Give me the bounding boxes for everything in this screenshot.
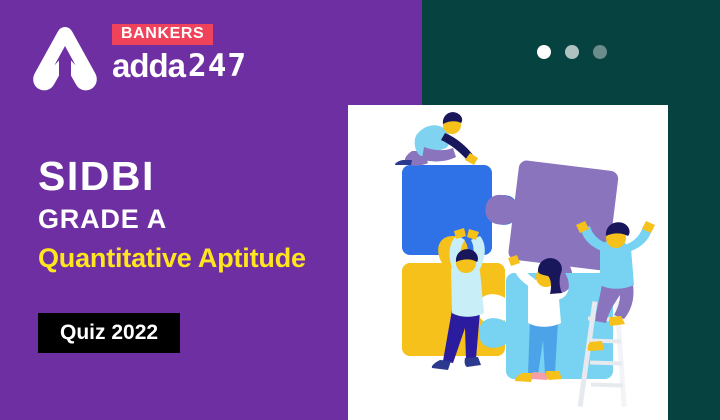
adda247-a-mark-icon [30,24,100,94]
illustration-card [348,105,668,420]
pager-dots [537,45,607,59]
banner-root: BANKERS adda 247 SIDBI GRADE A Quantitat… [0,0,720,420]
quiz-badge: Quiz 2022 [38,313,180,353]
brand-wordmark: BANKERS adda 247 [112,24,247,82]
pager-dot-2[interactable] [565,45,579,59]
person-kneeling-top [395,112,478,166]
exam-grade: GRADE A [38,204,368,235]
adda-number: 247 [188,51,247,82]
headline-block: SIDBI GRADE A Quantitative Aptitude [38,155,368,274]
exam-title: SIDBI [38,155,368,198]
pager-dot-3[interactable] [593,45,607,59]
adda-word: adda [112,49,185,82]
bankers-badge: BANKERS [112,24,213,45]
brand-logo[interactable]: BANKERS adda 247 [30,20,350,98]
pager-dot-active[interactable] [537,45,551,59]
teamwork-jigsaw-illustration [348,105,668,420]
exam-subject: Quantitative Aptitude [38,243,368,274]
